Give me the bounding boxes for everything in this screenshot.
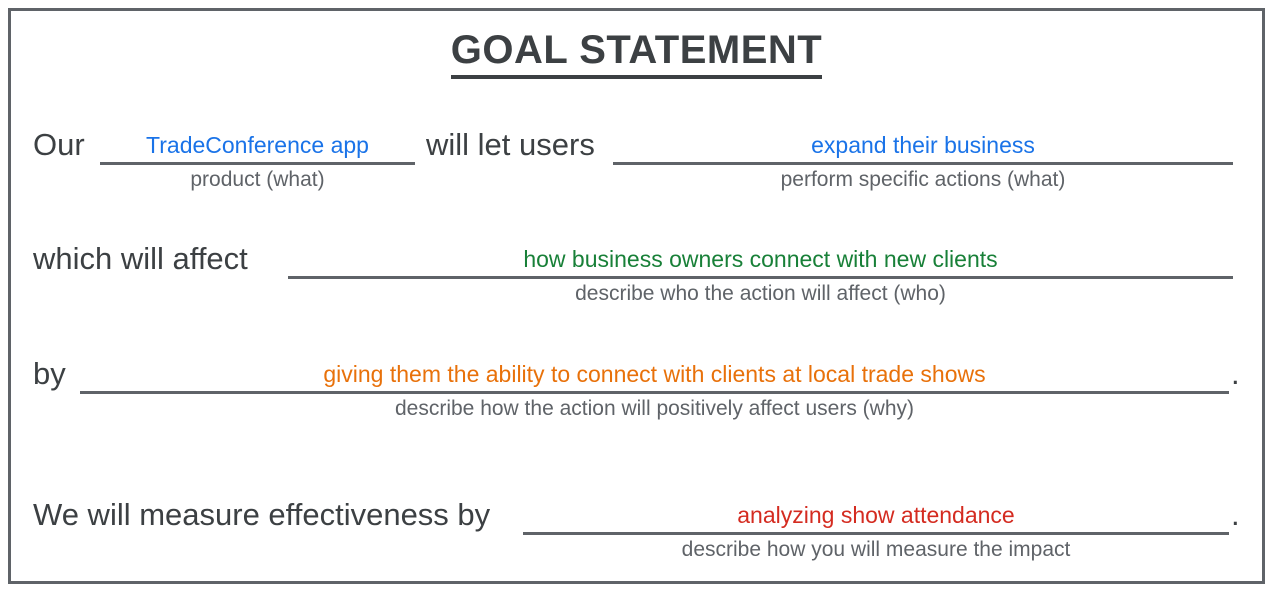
statement-line-3: by giving them the ability to connect wi… bbox=[11, 348, 1262, 394]
caption-actions: perform specific actions (what) bbox=[613, 167, 1233, 193]
line3-period: . bbox=[1231, 354, 1240, 394]
line4-lead-text: We will measure effectiveness by bbox=[33, 495, 490, 535]
goal-statement-page: GOAL STATEMENT Our TradeConference app w… bbox=[0, 0, 1273, 593]
line1-lead-text: Our bbox=[33, 125, 85, 165]
line3-lead-text: by bbox=[33, 354, 66, 394]
answer-why[interactable]: giving them the ability to connect with … bbox=[80, 361, 1229, 387]
answer-product[interactable]: TradeConference app bbox=[100, 132, 415, 158]
line2-lead-text: which will affect bbox=[33, 239, 248, 279]
blank-who[interactable]: how business owners connect with new cli… bbox=[288, 235, 1233, 279]
answer-who[interactable]: how business owners connect with new cli… bbox=[288, 246, 1233, 272]
answer-measure[interactable]: analyzing show attendance bbox=[523, 502, 1229, 528]
line1-middle-text: will let users bbox=[426, 125, 595, 165]
blank-why[interactable]: giving them the ability to connect with … bbox=[80, 350, 1229, 394]
caption-measure: describe how you will measure the impact bbox=[523, 537, 1229, 563]
caption-why: describe how the action will positively … bbox=[80, 396, 1229, 422]
statement-line-1: Our TradeConference app will let users e… bbox=[11, 119, 1262, 165]
page-title: GOAL STATEMENT bbox=[451, 27, 822, 79]
caption-who: describe who the action will affect (who… bbox=[288, 281, 1233, 307]
statement-line-4: We will measure effectiveness by analyzi… bbox=[11, 489, 1262, 535]
blank-measure[interactable]: analyzing show attendance bbox=[523, 491, 1229, 535]
statement-line-2: which will affect how business owners co… bbox=[11, 233, 1262, 279]
caption-product: product (what) bbox=[100, 167, 415, 193]
blank-product[interactable]: TradeConference app bbox=[100, 121, 415, 165]
blank-actions[interactable]: expand their business bbox=[613, 121, 1233, 165]
answer-actions[interactable]: expand their business bbox=[613, 132, 1233, 158]
document-frame: GOAL STATEMENT Our TradeConference app w… bbox=[8, 8, 1265, 584]
line4-period: . bbox=[1231, 495, 1240, 535]
page-title-container: GOAL STATEMENT bbox=[11, 27, 1262, 79]
